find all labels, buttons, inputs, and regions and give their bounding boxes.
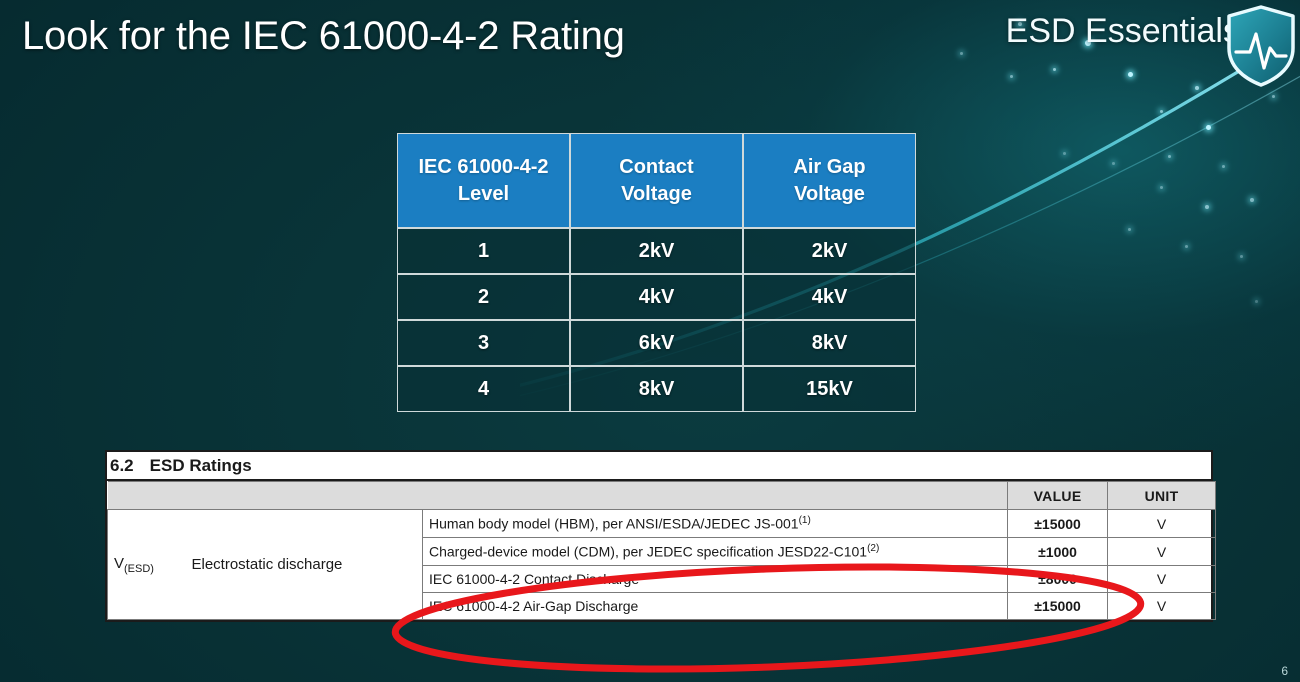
description-cell: Human body model (HBM), per ANSI/ESDA/JE… [423,510,1008,538]
footnote-marker: (2) [867,543,879,554]
level-cell: 2 [397,274,570,320]
esd-table-header-row: VALUE UNIT [108,482,1216,510]
table-row: 4 8kV 15kV [397,366,916,412]
level-table-header-contact: Contact Voltage [570,133,743,228]
level-cell: 3 [397,320,570,366]
table-row: V(ESD) Electrostatic discharge Human bod… [108,510,1216,538]
iec-level-table: IEC 61000-4-2 Level Contact Voltage Air … [397,133,916,412]
table-row: 2 4kV 4kV [397,274,916,320]
brand-lockup: ESD Essentials [1006,12,1240,51]
datasheet-section-heading: 6.2 ESD Ratings [107,452,1211,481]
table-row: 3 6kV 8kV [397,320,916,366]
airgap-cell: 4kV [743,274,916,320]
esd-header-value: VALUE [1008,482,1108,510]
esd-header-unit: UNIT [1108,482,1216,510]
value-cell: ±1000 [1008,538,1108,566]
value-cell: ±15000 [1008,510,1108,538]
page-title: Look for the IEC 61000-4-2 Rating [22,14,625,59]
airgap-cell: 15kV [743,366,916,412]
description-cell: Charged-device model (CDM), per JEDEC sp… [423,538,1008,566]
unit-cell: V [1108,510,1216,538]
page-number: 6 [1281,664,1288,678]
esd-header-blank [108,482,1008,510]
contact-cell: 4kV [570,274,743,320]
section-number: 6.2 [110,455,134,476]
table-row: 1 2kV 2kV [397,228,916,274]
symbol-cell: V(ESD) [108,510,186,620]
level-cell: 1 [397,228,570,274]
level-table-header-airgap: Air Gap Voltage [743,133,916,228]
level-table-header-row: IEC 61000-4-2 Level Contact Voltage Air … [397,133,916,228]
value-cell: ±8000 [1008,565,1108,592]
unit-cell: V [1108,565,1216,592]
esd-ratings-table: VALUE UNIT V(ESD) Electrostatic discharg… [107,481,1216,620]
symbol-subscript: (ESD) [124,563,154,575]
description-cell: IEC 61000-4-2 Air-Gap Discharge [423,593,1008,620]
footnote-marker: (1) [799,515,811,526]
brand-name: ESD Essentials [1006,12,1240,51]
shield-pulse-icon [1224,4,1298,88]
value-cell: ±15000 [1008,593,1108,620]
airgap-cell: 2kV [743,228,916,274]
section-title: ESD Ratings [150,455,252,476]
level-cell: 4 [397,366,570,412]
level-table-header-level: IEC 61000-4-2 Level [397,133,570,228]
datasheet-excerpt: 6.2 ESD Ratings VALUE UNIT V(ESD) Electr… [105,450,1213,622]
slide-canvas: Look for the IEC 61000-4-2 Rating ESD Es… [0,0,1300,682]
contact-cell: 8kV [570,366,743,412]
contact-cell: 2kV [570,228,743,274]
airgap-cell: 8kV [743,320,916,366]
contact-cell: 6kV [570,320,743,366]
parameter-name-cell: Electrostatic discharge [186,510,423,620]
unit-cell: V [1108,538,1216,566]
description-cell: IEC 61000-4-2 Contact Discharge [423,565,1008,592]
unit-cell: V [1108,593,1216,620]
